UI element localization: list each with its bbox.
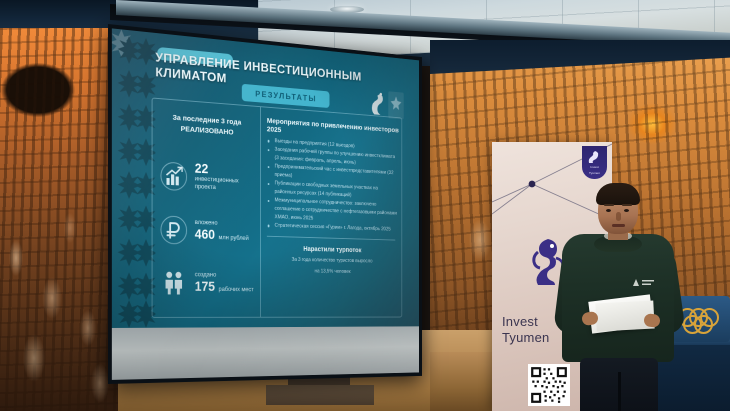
stat-investment-value: 460 [195, 228, 215, 242]
stat-projects: 22 инвестиционных проекта [160, 160, 260, 195]
tourism-growth-text-2: на 13,5% человек [269, 267, 394, 277]
wall-mural-left [0, 28, 118, 411]
events-panel: Мероприятия по привлечению инвесторов 20… [260, 107, 401, 317]
scene-photo: УПРАВЛЕНИЕ ИНВЕСТИЦИОННЫМ КЛИМАТОМ РЕЗУЛ… [0, 0, 730, 411]
tourism-growth-text-1: За 3 года количество туристов выросло [269, 255, 394, 265]
screen-stand-base [266, 385, 374, 405]
presentation-slide: УПРАВЛЕНИЕ ИНВЕСТИЦИОННЫМ КЛИМАТОМ РЕЗУЛ… [112, 28, 419, 328]
speaker [556, 186, 684, 411]
banner-badge-line1: Invest [590, 166, 598, 170]
stat-investment-unit: млн рублей [219, 234, 249, 243]
emblem-icon [388, 91, 403, 119]
nose [616, 212, 621, 221]
eyebrow-right [622, 204, 632, 206]
stat-jobs-unit: рабочих мест [219, 286, 254, 295]
two-people-icon [160, 268, 188, 298]
content-panel: За последние 3 года РЕАЛИЗОВАНО [152, 97, 403, 317]
olympic-rings-icon [678, 308, 724, 330]
ruble-icon [160, 215, 188, 245]
list-item: Межмуниципальное сотрудничество: заключе… [275, 197, 397, 226]
banner-badge-line2: Tyumen [589, 172, 600, 176]
projection-screen: УПРАВЛЕНИЕ ИНВЕСТИЦИОННЫМ КЛИМАТОМ РЕЗУЛ… [108, 24, 422, 384]
stat-jobs-value: 175 [195, 280, 215, 293]
tourism-growth-block: Нарастили турпоток За 3 года количество … [260, 244, 401, 277]
swan-icon [370, 90, 386, 118]
eye-left [606, 209, 611, 212]
hair [596, 183, 640, 205]
results-panel: За последние 3 года РЕАЛИЗОВАНО [153, 99, 261, 317]
banner-top-badge: Invest Tyumen [582, 146, 607, 179]
screen-blank-area [112, 326, 419, 380]
stat-investment: вложено 460 млн рублей [160, 215, 249, 247]
panel-divider [267, 236, 395, 241]
leg-separation [618, 372, 621, 411]
tourism-growth-heading: Нарастили турпоток [260, 244, 401, 255]
forest-texture [0, 28, 118, 411]
lion-badge-icon [588, 150, 601, 164]
stat-jobs: создано 175 рабочих мест [160, 268, 254, 298]
events-bullet-list: Выезды на предприятия (12 выездов) Засед… [260, 136, 401, 234]
eye-right [624, 209, 629, 212]
eyebrow-left [604, 204, 614, 206]
stat-projects-unit: инвестиционных проекта [195, 175, 260, 195]
bar-chart-growth-icon [160, 161, 188, 192]
mouth [612, 224, 625, 227]
chest-logo-icon [630, 276, 656, 290]
results-heading: За последние 3 года РЕАЛИЗОВАНО [153, 110, 260, 140]
